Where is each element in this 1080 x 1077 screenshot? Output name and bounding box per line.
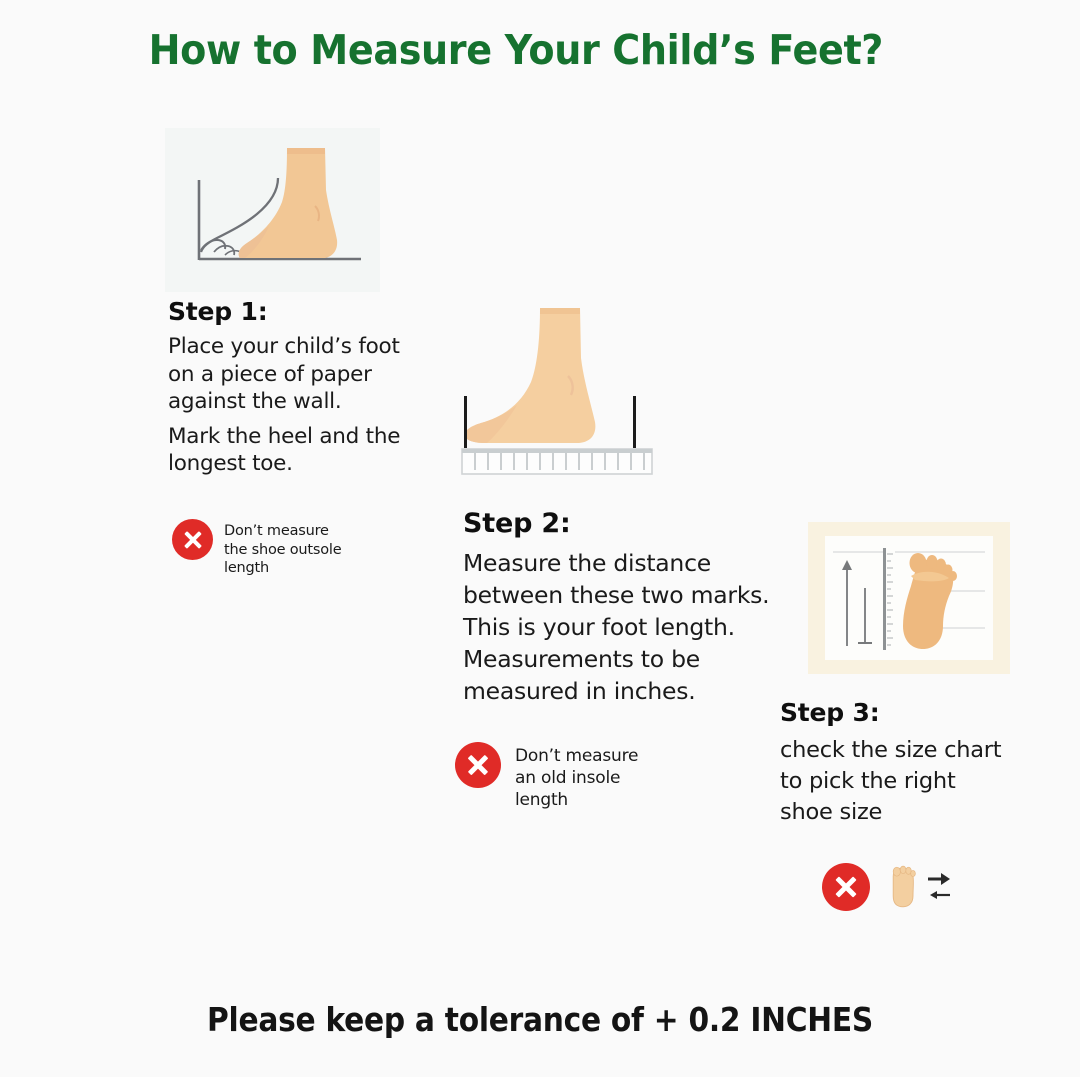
step-1-line-3: against the wall. <box>168 388 400 416</box>
step-1-warning-line-1: Don’t measure <box>224 522 341 541</box>
step-2-text-block: Step 2: Measure the distance between the… <box>463 508 769 707</box>
foot-against-wall-svg <box>165 128 380 292</box>
ankle-band <box>540 308 580 314</box>
step-1-warning: Don’t measure the shoe outsole length <box>172 519 341 578</box>
step-2-line-2: between these two marks. <box>463 579 769 611</box>
arrows-icon <box>926 869 952 909</box>
step-1-warning-text: Don’t measure the shoe outsole length <box>224 519 341 578</box>
step-3-body: check the size chart to pick the right s… <box>780 735 1001 828</box>
step-1-body: Place your child’s foot on a piece of pa… <box>168 333 400 478</box>
foot-on-ruler-illustration <box>455 300 685 486</box>
footprint-toe-big <box>910 553 927 573</box>
ankle-band <box>287 148 325 154</box>
footprint-size-chart-illustration <box>808 522 1010 674</box>
foot-on-ruler-svg <box>455 300 685 486</box>
step-1-warning-line-3: length <box>224 559 341 578</box>
footprint-size-chart-svg <box>825 536 993 660</box>
step-3-line-1: check the size chart <box>780 735 1001 766</box>
toe-mark <box>464 396 467 448</box>
step-1-warning-line-2: the shoe outsole <box>224 541 341 560</box>
step-1-line-5: longest toe. <box>168 450 400 478</box>
right-arrow-head <box>941 873 950 885</box>
step-1-line-2: on a piece of paper <box>168 361 400 389</box>
paragraph-gap <box>168 416 400 423</box>
vertical-ruler <box>883 548 886 650</box>
heel-mark <box>633 396 636 448</box>
step-1-line-1: Place your child’s foot <box>168 333 400 361</box>
step-1-line-4: Mark the heel and the <box>168 423 400 451</box>
step-2-warning-text: Don’t measure an old insole length <box>515 742 638 811</box>
step-2-line-4: Measurements to be <box>463 643 769 675</box>
footprint-toe-5 <box>949 571 957 581</box>
mini-toe-4 <box>911 870 916 876</box>
step-2-line-5: measured in inches. <box>463 675 769 707</box>
ruler-edge <box>462 449 652 453</box>
length-arrow-head <box>842 560 852 570</box>
step-2-line-1: Measure the distance <box>463 547 769 579</box>
step-2-body: Measure the distance between these two m… <box>463 547 769 707</box>
red-x-circle-icon <box>822 863 870 911</box>
left-arrow-head <box>930 891 937 899</box>
tolerance-note: Please keep a tolerance of + 0.2 INCHES <box>54 1000 1026 1039</box>
step-3-line-3: shoe size <box>780 797 1001 828</box>
mini-toe-1 <box>893 867 900 876</box>
footprint-toe-2 <box>927 555 938 569</box>
step-2-warning-line-2: an old insole <box>515 767 638 789</box>
step-2-line-3: This is your foot length. <box>463 611 769 643</box>
step-3-heading: Step 3: <box>780 698 1001 727</box>
page-title: How to Measure Your Child’s Feet? <box>14 26 1018 74</box>
step-1-heading: Step 1: <box>168 297 400 326</box>
red-x-circle-icon <box>172 519 213 560</box>
step-2-heading: Step 2: <box>463 508 769 539</box>
shoe-toe-1 <box>201 240 225 250</box>
step-2-warning: Don’t measure an old insole length <box>455 742 638 811</box>
step-2-warning-line-3: length <box>515 789 638 811</box>
step-3-line-2: to pick the right <box>780 766 1001 797</box>
footprint-with-arrows-icon <box>886 863 922 911</box>
infographic-canvas: How to Measure Your Child’s Feet? Step 1… <box>0 0 1080 1077</box>
step-1-text-block: Step 1: Place your child’s foot on a pie… <box>168 297 400 478</box>
vertical-ruler-ticks <box>887 554 893 645</box>
size-chart-card <box>825 536 993 660</box>
foot-against-wall-illustration <box>165 128 380 292</box>
step-3-text-block: Step 3: check the size chart to pick the… <box>780 698 1001 828</box>
step-3-warning <box>822 863 952 911</box>
mini-toe-2 <box>900 866 906 874</box>
step-2-warning-line-1: Don’t measure <box>515 745 638 767</box>
red-x-circle-icon <box>455 742 501 788</box>
